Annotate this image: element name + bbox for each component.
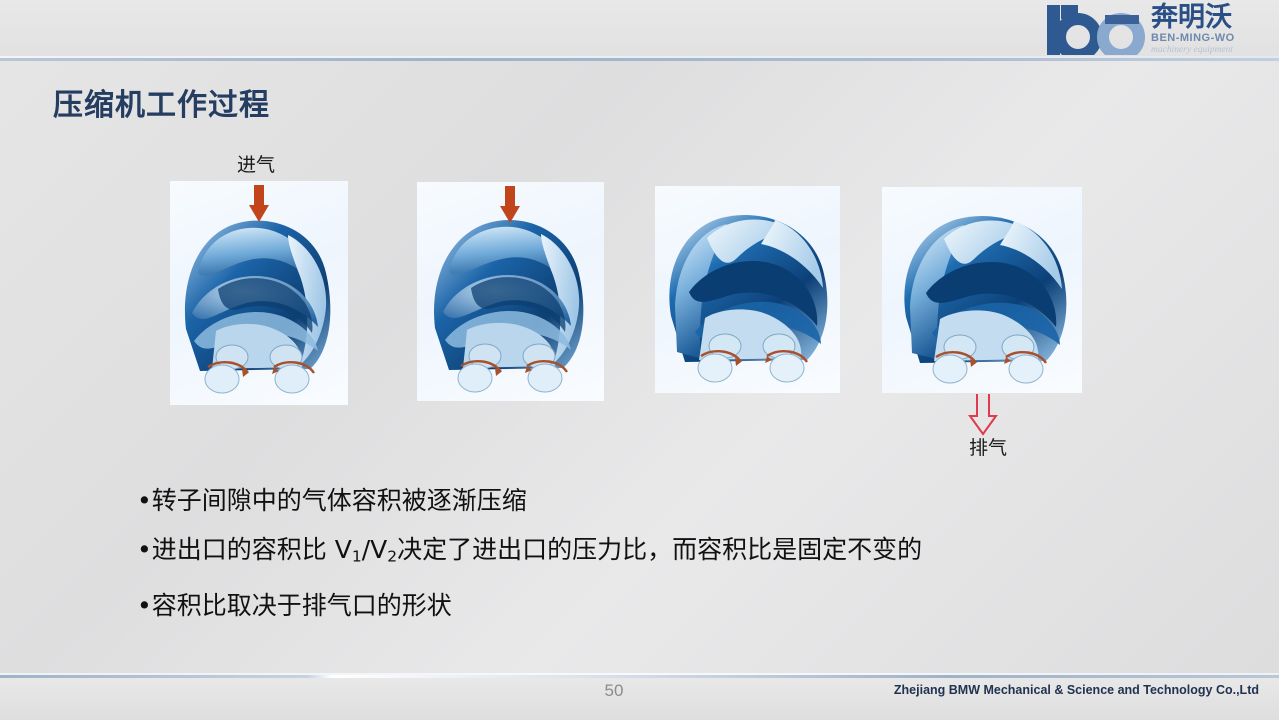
intake-arrow-icon [248,185,270,223]
intake-arrow-icon [499,186,521,224]
bullet-text-post: 决定了进出口的压力比，而容积比是固定不变的 [397,535,922,564]
bullet-item-1: •转子间隙中的气体容积被逐渐压缩 [137,476,1137,525]
bullet-text: 转子间隙中的气体容积被逐渐压缩 [152,486,527,515]
company-logo: 奔明沃 BEN-MING-WO machinery equipment [1039,2,1269,58]
screw-rotor-illustration [655,186,840,393]
footer-divider [0,675,1279,678]
page-title: 压缩机工作过程 [53,80,270,124]
logo-chinese-name: 奔明沃 [1151,3,1269,32]
bullet-text: 容积比取决于排气口的形状 [152,591,452,620]
header-divider [0,58,1279,61]
rotor-panel-stage-4 [882,187,1082,393]
exhaust-arrow-icon [968,394,998,436]
bo-monogram-icon [1045,5,1149,55]
logo-english-name: BEN-MING-WO [1151,32,1269,45]
rotor-panel-stage-2 [417,182,604,401]
bullet-item-2: •进出口的容积比 V1/V2决定了进出口的压力比，而容积比是固定不变的 [137,525,1137,581]
bullet-marker: • [137,535,152,564]
rotor-panel-stage-3 [655,186,840,393]
bullet-marker: • [137,591,152,620]
bullet-text-pre: 进出口的容积比 V [152,535,352,564]
screw-rotor-illustration [882,187,1082,393]
rotor-panel-stage-1 [170,181,348,405]
company-name: Zhejiang BMW Mechanical & Science and Te… [894,683,1259,697]
logo-tagline: machinery equipment [1151,45,1269,56]
logo-wordmark: 奔明沃 BEN-MING-WO machinery equipment [1151,3,1269,56]
volume-ratio-subscript-2: 2 [387,547,397,565]
bullet-item-3: •容积比取决于排气口的形状 [137,581,1137,630]
bullet-text-mid: /V [362,535,388,564]
exhaust-label: 排气 [969,433,1007,460]
page-number: 50 [596,681,632,701]
volume-ratio-subscript-1: 1 [352,547,362,565]
bullet-list: •转子间隙中的气体容积被逐渐压缩 •进出口的容积比 V1/V2决定了进出口的压力… [137,476,1137,630]
intake-label: 进气 [237,150,275,177]
bullet-marker: • [137,486,152,515]
